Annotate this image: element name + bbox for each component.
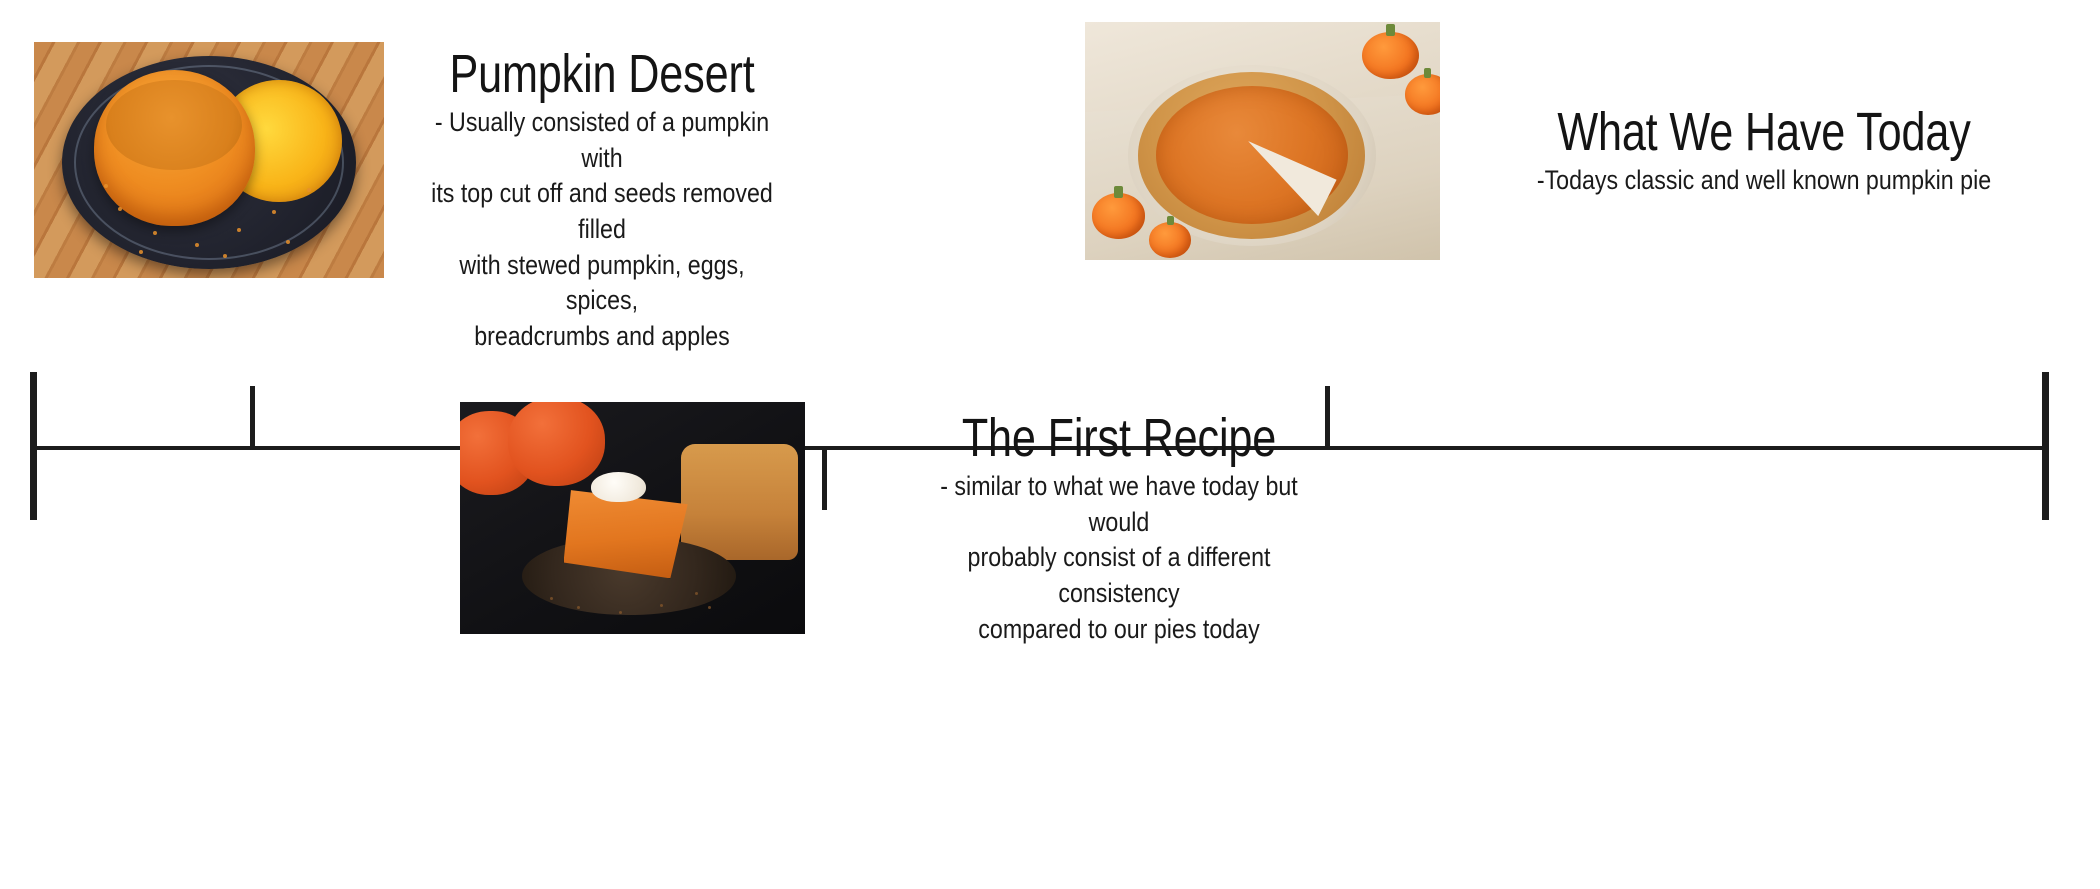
entry-body-pumpkin-desert: - Usually consisted of a pumpkin with it…	[430, 105, 774, 354]
entry-title-the-first-recipe: The First Recipe	[927, 410, 1311, 467]
stuffed-pumpkin-on-dark-plate-photo	[34, 42, 384, 278]
entry-body-line: its top cut off and seeds removed filled	[430, 176, 774, 247]
timeline-end-cap	[2042, 372, 2049, 520]
pumpkin-pie-slice-photo	[460, 402, 805, 634]
entry-body-line: with stewed pumpkin, eggs, spices,	[430, 248, 774, 319]
entry-body-line: breadcrumbs and apples	[430, 319, 774, 355]
entry-body-line: compared to our pies today	[913, 612, 1326, 648]
entry-text-the-first-recipe: The First Recipe - similar to what we ha…	[879, 400, 1359, 647]
entry-body-the-first-recipe: - similar to what we have today but woul…	[913, 469, 1326, 647]
timeline-entry-pumpkin-desert: Pumpkin Desert - Usually consisted of a …	[34, 42, 802, 355]
timeline-infographic: Pumpkin Desert - Usually consisted of a …	[0, 0, 2100, 889]
whole-pumpkin-pie-photo	[1085, 22, 1440, 260]
entry-body-line: - Usually consisted of a pumpkin with	[430, 105, 774, 176]
entry-body-line: -Todays classic and well known pumpkin p…	[1497, 163, 2030, 199]
entry-body-what-we-have-today: -Todays classic and well known pumpkin p…	[1497, 163, 2030, 199]
tick-pumpkin-desert	[250, 386, 255, 448]
entry-text-what-we-have-today: What We Have Today -Todays classic and w…	[1454, 22, 2074, 199]
entry-body-line: probably consist of a different consiste…	[913, 540, 1326, 611]
timeline-entry-what-we-have-today: What We Have Today -Todays classic and w…	[1085, 22, 2074, 260]
entry-body-line: - similar to what we have today but woul…	[913, 469, 1326, 540]
timeline-entry-the-first-recipe: The First Recipe - similar to what we ha…	[460, 400, 1359, 647]
entry-title-what-we-have-today: What We Have Today	[1516, 104, 2012, 161]
entry-title-pumpkin-desert: Pumpkin Desert	[442, 46, 762, 103]
timeline-start-cap	[30, 372, 37, 520]
entry-text-pumpkin-desert: Pumpkin Desert - Usually consisted of a …	[402, 42, 802, 355]
